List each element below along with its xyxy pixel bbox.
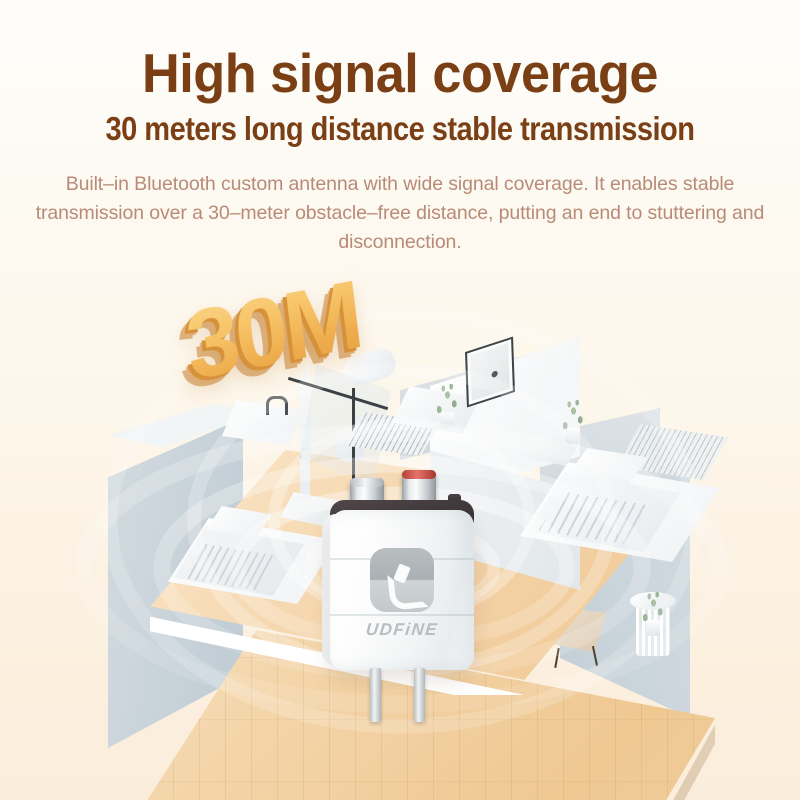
wall-art-image (470, 343, 510, 401)
power-prong (414, 668, 425, 722)
page-subtitle: 30 meters long distance stable transmiss… (48, 110, 752, 148)
page-title: High signal coverage (20, 44, 780, 102)
potted-plant-icon (434, 386, 460, 428)
udfine-plug-logo-icon (370, 548, 434, 612)
potted-plant-icon (640, 590, 668, 636)
potted-plant-icon (560, 398, 588, 444)
product-feature-poster: High signal coverage 30 meters long dist… (0, 0, 800, 800)
bed-right-bedroom (520, 440, 720, 570)
faucet-icon (266, 396, 288, 415)
power-prong (370, 668, 381, 722)
device-brand-label: UDFiNE (321, 620, 483, 640)
bed-left-bedroom (168, 500, 338, 610)
bluetooth-adapter-device: UDFiNE (322, 484, 482, 699)
body-paragraph: Built–in Bluetooth custom antenna with w… (28, 170, 772, 257)
